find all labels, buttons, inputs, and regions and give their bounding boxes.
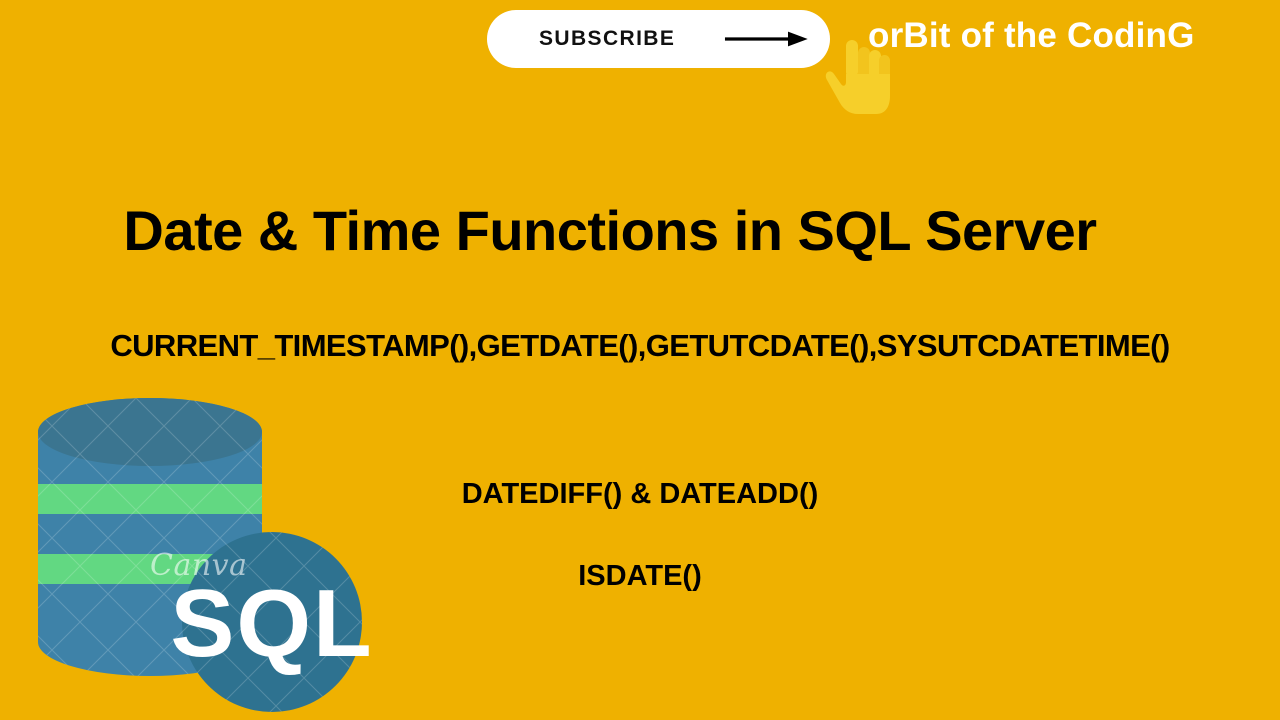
subscribe-button-label: SUBSCRIBE: [539, 27, 675, 51]
channel-name: orBit of the CodinG: [868, 16, 1195, 56]
arrow-right-icon: [723, 28, 808, 50]
thumbnail-canvas: SUBSCRIBE orBit of the CodinG Date & Tim…: [0, 0, 1280, 720]
page-title: Date & Time Functions in SQL Server: [0, 198, 1220, 263]
function-line-isdate: ISDATE(): [260, 560, 1020, 593]
function-line-current-timestamp: CURRENT_TIMESTAMP(),GETDATE(),GETUTCDATE…: [0, 328, 1280, 364]
sql-badge-label: SQL: [170, 570, 373, 677]
subscribe-button[interactable]: SUBSCRIBE: [487, 10, 830, 68]
function-line-datediff-dateadd: DATEDIFF() & DATEADD(): [260, 478, 1020, 511]
database-cylinder-icon: SQL: [24, 398, 374, 720]
